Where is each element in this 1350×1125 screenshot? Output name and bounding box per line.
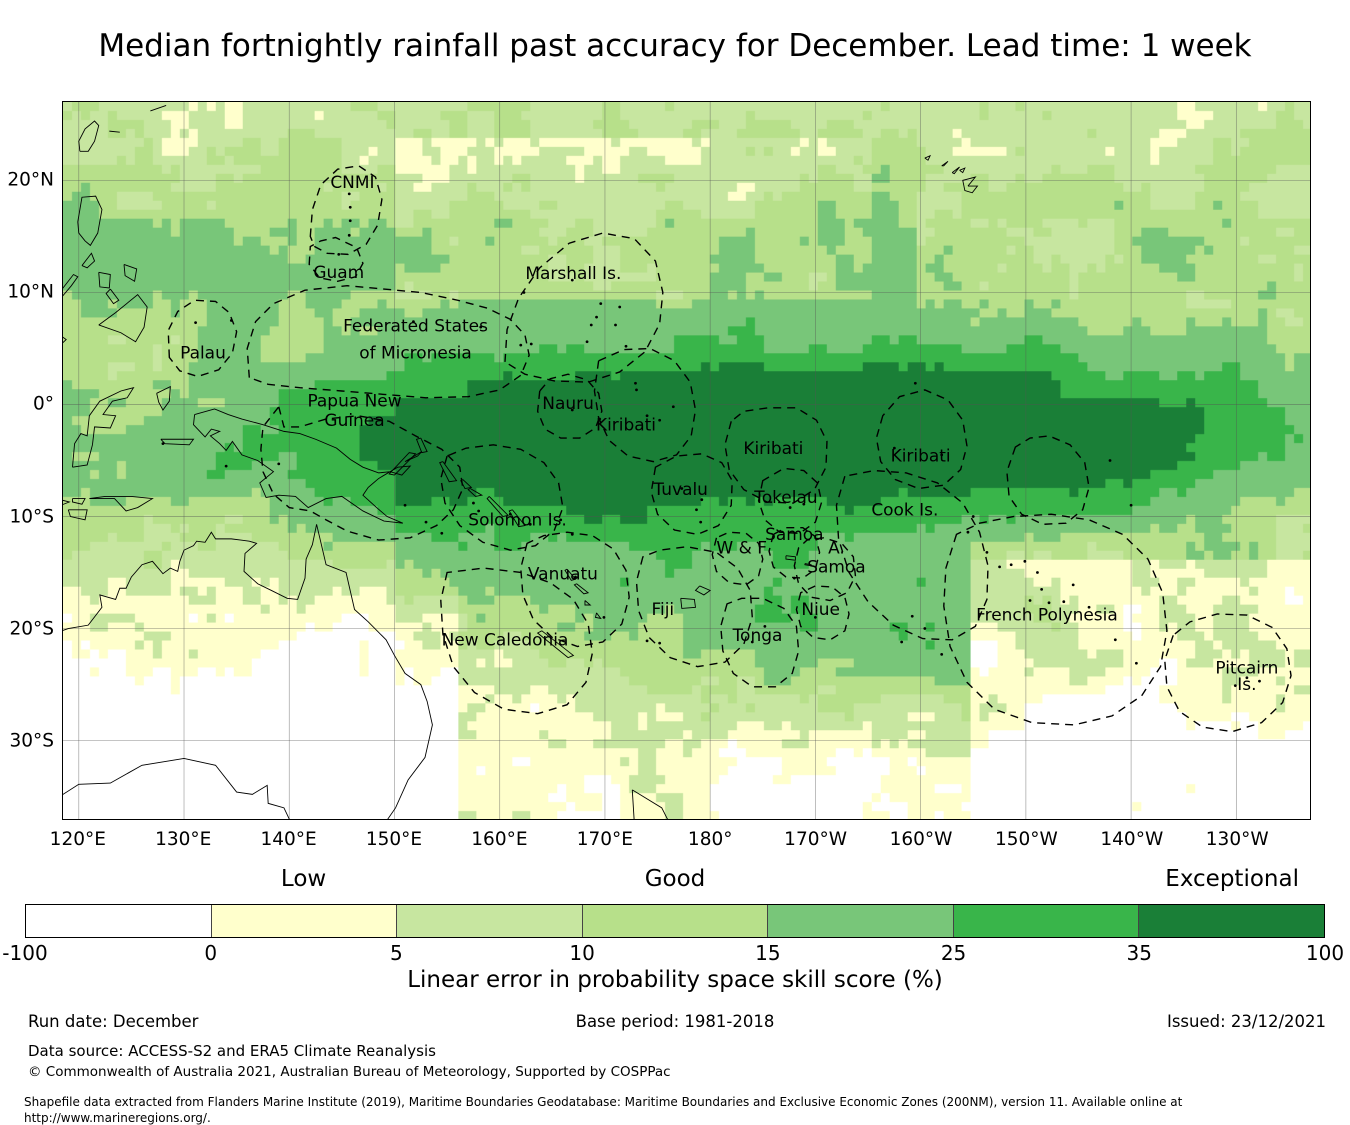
island-marker xyxy=(634,382,637,385)
map-region-label: Palau xyxy=(180,343,226,363)
map-region-label: Niue xyxy=(801,599,840,619)
map-region-label: Kiribati xyxy=(743,438,803,458)
colorbar-segment xyxy=(211,905,397,937)
x-axis-tick-label: 150°E xyxy=(366,829,422,850)
colorbar-tick-label: 0 xyxy=(204,941,217,965)
map-region-label: Samoa xyxy=(765,524,823,544)
coastline-path xyxy=(468,489,482,497)
map-region-label: Cook Is. xyxy=(871,499,938,519)
map-region-label: Guinea xyxy=(324,410,384,430)
island-marker xyxy=(695,508,698,511)
island-marker xyxy=(625,345,628,348)
colorbar-tick-label: -100 xyxy=(2,941,47,965)
island-marker xyxy=(1114,638,1117,641)
island-marker xyxy=(277,462,280,465)
island-marker xyxy=(1072,583,1075,586)
footer-issued-date: Issued: 23/12/2021 xyxy=(1167,1012,1326,1031)
island-marker xyxy=(162,442,165,445)
island-marker xyxy=(614,324,617,327)
x-axis-tick-label: 160°E xyxy=(471,829,527,850)
coastline-path xyxy=(595,613,600,619)
island-marker xyxy=(940,653,943,656)
island-marker xyxy=(1040,588,1043,591)
map-region-label: Kiribati xyxy=(891,446,951,466)
graticule-gridlines xyxy=(63,102,1310,819)
island-marker xyxy=(225,465,228,468)
island-marker xyxy=(672,405,675,408)
x-axis-tick-label: 170°E xyxy=(577,829,633,850)
coastline-path xyxy=(63,524,432,819)
coastline-path xyxy=(78,196,102,245)
coastline-path xyxy=(695,586,710,595)
y-axis-ticks: 20°N10°N0°10°S20°S30°S xyxy=(0,101,54,820)
island-marker xyxy=(599,302,602,305)
colorbar-tick-label: 100 xyxy=(1306,941,1344,965)
coastline-path xyxy=(72,388,133,467)
island-marker xyxy=(635,389,638,392)
colorbar-segment xyxy=(767,905,953,937)
map-region-label: Tonga xyxy=(732,625,783,645)
island-marker xyxy=(658,642,661,645)
island-marker xyxy=(348,192,351,195)
map-region-label: Kiribati xyxy=(596,414,656,434)
coastline-path xyxy=(161,439,194,445)
map-region-label: Vanuatu xyxy=(528,563,598,583)
island-marker xyxy=(911,615,914,618)
island-marker xyxy=(699,521,702,524)
x-axis-tick-label: 170°W xyxy=(784,829,847,850)
x-axis-tick-label: 130°E xyxy=(155,829,211,850)
island-marker xyxy=(1029,599,1032,602)
colorbar-tick-labels: -1000510152535100 xyxy=(0,941,1350,967)
island-marker xyxy=(1135,662,1138,665)
map-region-label: CNMI xyxy=(330,172,374,192)
footer-shapefile-line2: http://www.marineregions.org/. xyxy=(24,1110,1182,1125)
footer-copyright: © Commonwealth of Australia 2021, Austra… xyxy=(28,1064,671,1080)
x-axis-tick-label: 120°E xyxy=(50,829,106,850)
island-marker xyxy=(590,324,593,327)
island-marker xyxy=(923,627,926,630)
island-marker xyxy=(1023,560,1026,563)
coastline-path xyxy=(99,295,147,342)
map-overlay: CNMIGuamMarshall Is.PalauFederated State… xyxy=(63,102,1310,819)
coastline-path xyxy=(632,790,689,819)
coastline-path xyxy=(106,289,119,304)
footer-shapefile-line1: Shapefile data extracted from Flanders M… xyxy=(24,1094,1182,1110)
map-region-label: Guam xyxy=(313,262,364,282)
coastline-path xyxy=(585,601,590,605)
map-region-label: W & F xyxy=(716,537,767,557)
map-region-label: New Caledonia xyxy=(442,629,569,649)
map-region-label: Marshall Is. xyxy=(525,263,621,283)
y-axis-tick-label: 30°S xyxy=(2,731,54,752)
colorbar-segment xyxy=(26,905,211,937)
island-marker xyxy=(1130,504,1133,507)
colorbar-tick-label: 10 xyxy=(569,941,594,965)
island-marker xyxy=(914,382,917,385)
colorbar-segment xyxy=(1138,905,1324,937)
island-marker xyxy=(349,219,352,222)
coastline-path xyxy=(963,177,978,193)
map-region-label: French Polynesia xyxy=(976,605,1118,625)
island-marker xyxy=(986,551,989,554)
coastline-path xyxy=(89,496,152,511)
eez-boundary xyxy=(836,471,988,640)
island-marker xyxy=(472,502,475,505)
footer-base-period: Base period: 1981-2018 xyxy=(0,1012,1350,1031)
colorbar-tick-label: 25 xyxy=(941,941,966,965)
island-marker xyxy=(425,521,428,524)
colorbar[interactable] xyxy=(25,904,1325,938)
coastline-path xyxy=(942,161,948,165)
footer-row-primary: Run date: December Base period: 1981-201… xyxy=(0,1012,1350,1038)
footer: Run date: December Base period: 1981-201… xyxy=(0,1012,1350,1038)
y-axis-tick-label: 20°S xyxy=(2,619,54,640)
y-axis-tick-label: 0° xyxy=(2,394,54,415)
coastline-path xyxy=(157,387,171,410)
island-marker xyxy=(404,504,407,507)
colorbar-category-label: Low xyxy=(281,866,326,892)
x-axis-tick-label: 140°E xyxy=(260,829,316,850)
colorbar-category-label: Good xyxy=(645,866,706,892)
island-marker xyxy=(194,321,197,324)
island-marker xyxy=(967,531,970,534)
coastlines xyxy=(63,102,1261,819)
coastline-path xyxy=(150,105,166,111)
colorbar-tick-label: 5 xyxy=(390,941,403,965)
colorbar-segment xyxy=(582,905,768,937)
coastline-path xyxy=(79,121,99,151)
coastline-path xyxy=(952,167,959,174)
coastline-path xyxy=(960,168,965,172)
colorbar-segment xyxy=(396,905,582,937)
coastline-path xyxy=(63,326,66,399)
island-marker xyxy=(530,343,533,346)
figure-root: Median fortnightly rainfall past accurac… xyxy=(0,0,1350,1125)
colorbar-category-label: Exceptional xyxy=(1165,866,1299,892)
eez-boundary xyxy=(168,300,236,376)
coastline-path xyxy=(99,272,111,288)
coastline-path xyxy=(681,598,696,608)
island-marker xyxy=(646,640,649,643)
island-marker xyxy=(1036,571,1039,574)
colorbar-axis-label: Linear error in probability space skill … xyxy=(0,967,1350,993)
island-marker xyxy=(1010,563,1013,566)
coastline-path xyxy=(63,275,78,312)
eez-boundary xyxy=(1007,436,1089,524)
map-region-labels: CNMIGuamMarshall Is.PalauFederated State… xyxy=(180,172,1278,694)
y-axis-tick-label: 20°N xyxy=(2,169,54,190)
x-axis-ticks: 120°E130°E140°E150°E160°E170°E180°170°W1… xyxy=(62,829,1311,857)
island-marker xyxy=(1258,680,1261,683)
island-marker xyxy=(900,641,903,644)
eez-boundary xyxy=(594,349,695,462)
map-region-label: A. xyxy=(828,537,845,557)
coastline-path xyxy=(68,510,87,520)
map-region-label: Papua New xyxy=(307,391,401,411)
map-region-label: Solomon Is. xyxy=(468,510,567,530)
island-marker xyxy=(337,253,340,256)
coastline-path xyxy=(109,131,119,132)
island-marker xyxy=(972,515,975,518)
x-axis-tick-label: 150°W xyxy=(995,829,1058,850)
map-region-label: Tuvalu xyxy=(652,479,707,499)
map-region-label: of Micronesia xyxy=(359,343,472,363)
map-plot-area[interactable]: CNMIGuamMarshall Is.PalauFederated State… xyxy=(62,101,1311,820)
coastline-path xyxy=(389,453,415,475)
footer-data-source: Data source: ACCESS-S2 and ERA5 Climate … xyxy=(28,1042,436,1060)
island-marker xyxy=(440,532,443,535)
island-marker xyxy=(586,340,589,343)
page-title: Median fortnightly rainfall past accurac… xyxy=(0,28,1350,64)
island-marker xyxy=(618,306,621,309)
island-marker xyxy=(595,316,598,319)
map-region-label: Samoa xyxy=(807,556,865,576)
x-axis-tick-label: 130°W xyxy=(1206,829,1269,850)
island-marker xyxy=(998,566,1001,569)
x-axis-tick-label: 140°W xyxy=(1100,829,1163,850)
map-region-label: Federated States xyxy=(343,316,488,336)
island-marker xyxy=(658,419,661,422)
colorbar-segment xyxy=(953,905,1139,937)
eez-boundary xyxy=(505,233,663,382)
colorbar-tick-label: 15 xyxy=(755,941,780,965)
x-axis-tick-label: 180° xyxy=(688,829,733,850)
island-marker xyxy=(349,206,352,209)
coastline-path xyxy=(82,253,95,268)
y-axis-tick-label: 10°N xyxy=(2,281,54,302)
coastline-path xyxy=(124,264,137,281)
island-marker xyxy=(348,234,351,237)
colorbar-category-labels: LowGoodExceptional xyxy=(0,866,1350,894)
island-marker xyxy=(1109,459,1112,462)
map-region-label: Nauru xyxy=(542,393,594,413)
map-region-label: Tokelau xyxy=(753,487,817,507)
island-marker xyxy=(519,344,522,347)
x-axis-tick-label: 160°W xyxy=(890,829,953,850)
coastline-path xyxy=(63,496,69,505)
island-marker xyxy=(603,616,606,619)
map-region-label: Is. xyxy=(1237,674,1256,694)
coastline-path xyxy=(574,584,588,594)
coastline-path xyxy=(925,156,930,160)
coastline-path xyxy=(786,556,795,560)
island-marker xyxy=(1062,600,1065,603)
map-region-label: Fiji xyxy=(652,599,675,619)
footer-shapefile-attribution: Shapefile data extracted from Flanders M… xyxy=(24,1094,1182,1125)
colorbar-tick-label: 35 xyxy=(1127,941,1152,965)
y-axis-tick-label: 10°S xyxy=(2,506,54,527)
